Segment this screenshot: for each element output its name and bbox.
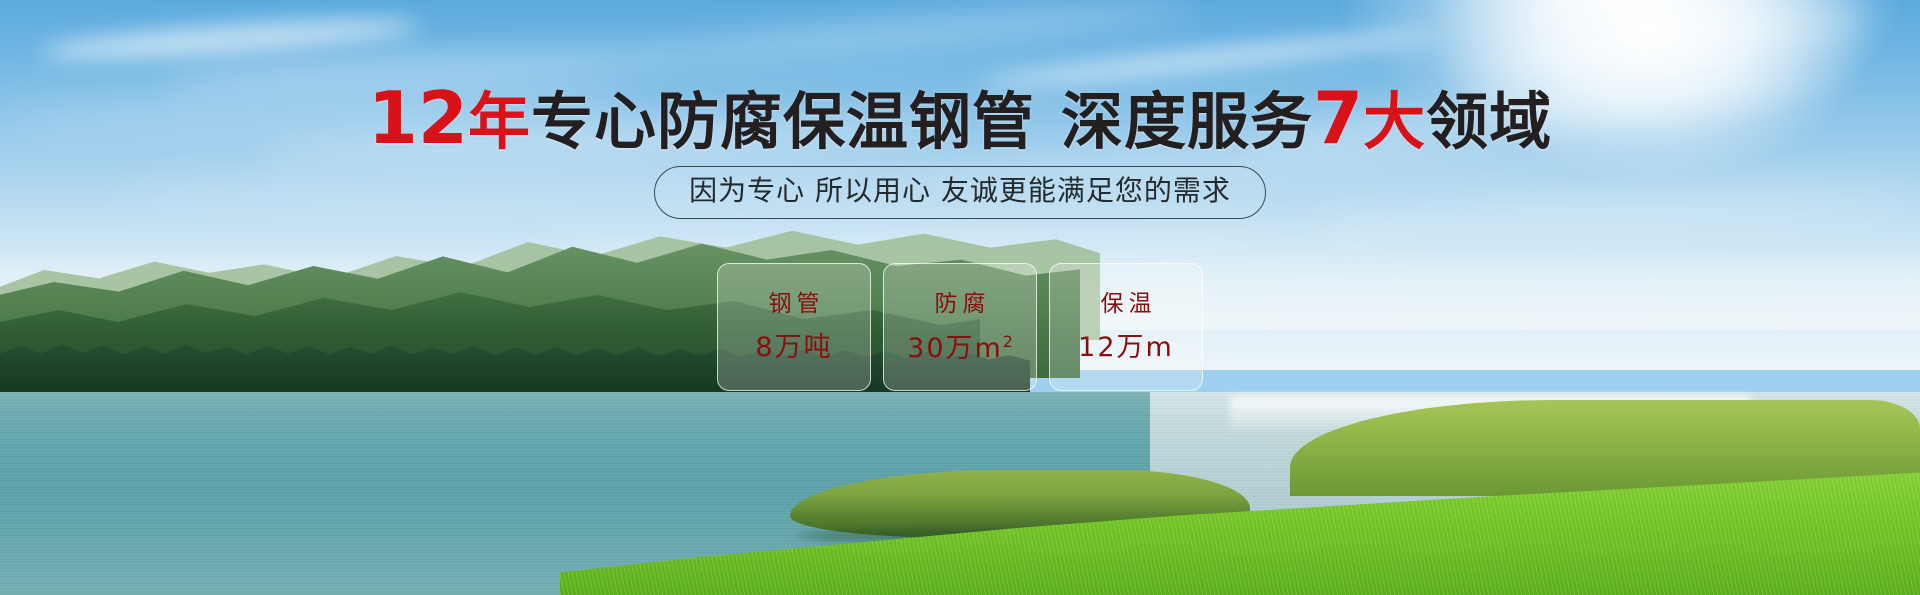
stat-card-label: 防腐 <box>930 293 991 316</box>
stat-card-value: 8万吨 <box>755 334 832 361</box>
stat-card-insulation: 保温 12万m <box>1049 263 1203 391</box>
headline-fields-number: 7 <box>1313 76 1363 160</box>
stat-card-steel-pipe: 钢管 8万吨 <box>717 263 871 391</box>
banner-headline: 12年专心防腐保温钢管深度服务7大领域 <box>0 82 1920 154</box>
headline-fields-unit: 大 <box>1363 85 1426 158</box>
headline-years-unit: 年 <box>468 85 531 158</box>
stat-card-label: 钢管 <box>764 293 825 316</box>
headline-years-number: 12 <box>368 76 468 160</box>
hero-banner: 12年专心防腐保温钢管深度服务7大领域 因为专心 所以用心 友诚更能满足您的需求… <box>0 0 1920 595</box>
banner-subtitle-wrap: 因为专心 所以用心 友诚更能满足您的需求 <box>0 166 1920 219</box>
stat-card-label: 保温 <box>1096 293 1157 316</box>
stat-card-anticorrosion: 防腐 30万m2 <box>883 263 1037 391</box>
headline-fields-text: 领域 <box>1426 85 1552 158</box>
stat-card-value: 12万m <box>1078 334 1174 361</box>
stat-card-value-text: 8万吨 <box>755 332 832 363</box>
headline-service-text: 深度服务 <box>1061 85 1313 158</box>
headline-main-text: 专心防腐保温钢管 <box>531 85 1035 158</box>
stat-card-group: 钢管 8万吨 防腐 30万m2 保温 12万m <box>0 263 1920 391</box>
stat-card-value: 30万m2 <box>907 334 1013 362</box>
stat-card-value-text: 12万m <box>1078 332 1174 363</box>
banner-subtitle-pill: 因为专心 所以用心 友诚更能满足您的需求 <box>654 166 1266 219</box>
stat-card-value-superscript: 2 <box>1003 332 1013 351</box>
stat-card-value-text: 30万m <box>907 333 1003 364</box>
